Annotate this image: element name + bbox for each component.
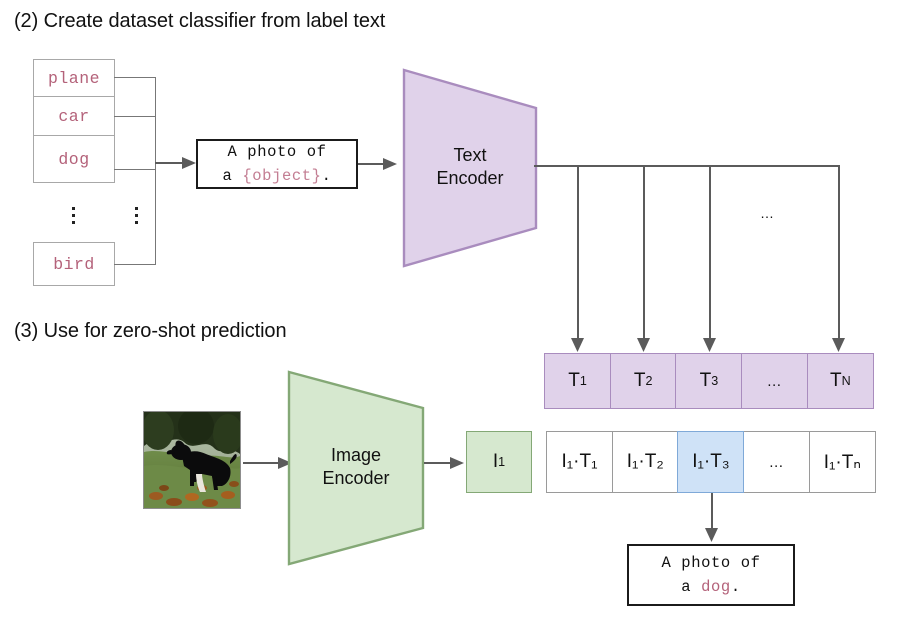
label-box-dog[interactable]: dog [33,135,115,183]
image-encoder-label: Image Encoder [286,444,426,490]
image-encoder-line-1: Image [286,444,426,467]
cell-base: T [700,370,712,392]
prediction-line2-suffix: . [731,578,741,596]
connector-car [114,116,156,117]
image-encoder-shape[interactable]: Image Encoder [286,368,426,568]
text-embedding-cell-ellipsis: … [741,353,808,409]
text-embedding-bus [534,165,839,167]
prompt-object-slot: {object} [242,167,321,185]
label-box-bird[interactable]: bird [33,242,115,286]
cell-sub: 3 [711,374,718,388]
prompt-line-1: A photo of [227,140,326,164]
connector-dog [114,169,156,170]
image-embedding-box[interactable]: I1 [466,431,532,493]
text-embedding-cell-1[interactable]: T1 [544,353,611,409]
connector-bird [114,264,156,265]
text-encoder-label: Text Encoder [401,144,539,190]
prediction-class-label: dog [701,578,731,596]
similarity-cell-label: I₁·T₂ [627,451,664,473]
bus-drop-n [838,165,840,342]
text-embedding-cell-2[interactable]: T2 [610,353,677,409]
bus-drop-2 [643,165,645,342]
prediction-line-1: A photo of [661,551,760,575]
arrow-selection-to-prediction-head [704,528,720,544]
text-encoder-shape[interactable]: Text Encoder [401,66,539,270]
prompt-line2-suffix: . [322,167,332,185]
bus-drop-3 [709,165,711,342]
label-text: plane [48,69,100,88]
connector-plane [114,77,156,78]
label-list-ellipsis-left [64,203,82,224]
text-embedding-cell-n[interactable]: TN [807,353,874,409]
connector-bus-vertical [155,77,156,265]
label-text: bird [53,255,95,274]
label-text: dog [58,150,89,169]
similarity-cell-3-selected[interactable]: I₁·T₃ [677,431,744,493]
prompt-template-box[interactable]: A photo of a {object}. [196,139,358,189]
similarity-cell-label: I₁·T₃ [692,451,729,473]
prediction-line-2: a dog. [681,575,740,599]
section-3-heading: (3) Use for zero-shot prediction [14,320,286,343]
similarity-cell-label: I₁·Tₙ [824,451,861,474]
similarity-cell-2[interactable]: I₁·T₂ [612,431,679,493]
prediction-box[interactable]: A photo of a dog. [627,544,795,606]
text-embedding-cell-3[interactable]: T3 [675,353,742,409]
bus-ellipsis: … [760,205,776,221]
arrow-prompt-to-text-encoder-head [383,156,399,172]
label-box-car[interactable]: car [33,96,115,136]
bus-arrowhead-n [831,338,847,354]
text-encoder-line-1: Text [401,144,539,167]
cell-base: T [568,370,580,392]
cell-base: T [830,370,842,392]
input-photo-image [144,412,240,508]
bus-drop-1 [577,165,579,342]
text-embedding-row: T1 T2 T3 … TN [544,353,874,409]
section-2-heading: (2) Create dataset classifier from label… [14,10,385,33]
similarity-cell-ellipsis: … [743,431,810,493]
image-encoder-line-2: Encoder [286,467,426,490]
label-list-ellipsis-right [127,203,145,224]
label-box-plane[interactable]: plane [33,59,115,97]
prompt-line-2: a {object}. [223,164,332,188]
prediction-line2-prefix: a [681,578,701,596]
prompt-line2-prefix: a [223,167,243,185]
cell-sub: 2 [646,374,653,388]
input-photo[interactable] [143,411,241,509]
image-embedding-sub: 1 [498,455,505,469]
cell-base: T [634,370,646,392]
arrow-selection-to-prediction-shaft [711,493,713,531]
text-encoder-line-2: Encoder [401,167,539,190]
similarity-cell-label: I₁·T₁ [561,451,597,473]
label-text: car [58,107,89,126]
bus-arrowhead-1 [570,338,586,354]
similarity-cell-1[interactable]: I₁·T₁ [546,431,613,493]
arrow-image-encoder-to-embedding-head [450,455,466,471]
cell-sub: N [842,374,851,388]
bus-arrowhead-3 [702,338,718,354]
similarity-cell-label: … [769,454,785,471]
cell-base: … [767,373,783,390]
similarity-cell-n[interactable]: I₁·Tₙ [809,431,876,493]
cell-sub: 1 [580,374,587,388]
bus-arrowhead-2 [636,338,652,354]
figure-canvas: (2) Create dataset classifier from label… [0,0,906,624]
similarity-row: I₁·T₁ I₁·T₂ I₁·T₃ … I₁·Tₙ [546,431,876,493]
